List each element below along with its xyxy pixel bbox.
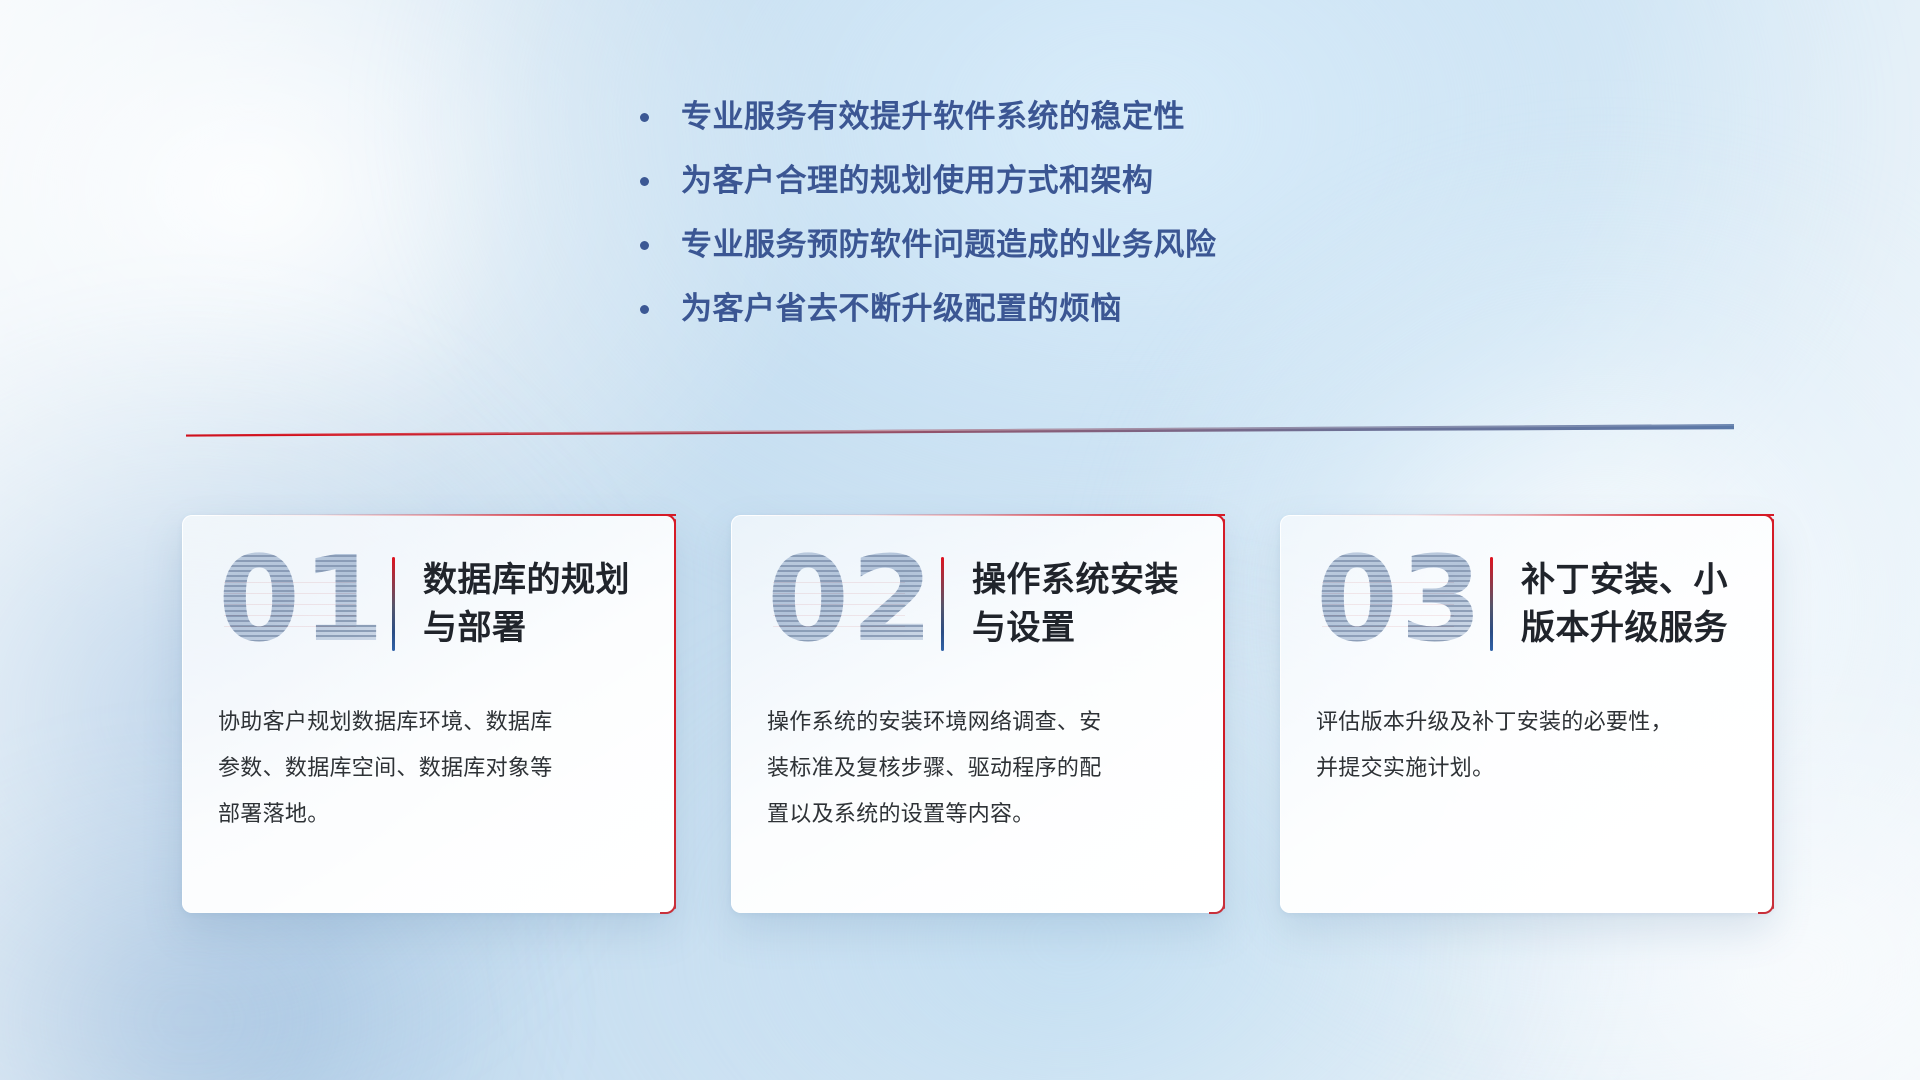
card-body-text: 协助客户规划数据库环境、数据库 参数、数据库空间、数据库对象等 部署落地。	[182, 699, 675, 837]
service-card-group: 01 数据库的规划 与部署 协助客户规划数据库环境、数据库 参数、数据库空间、数…	[182, 515, 1774, 913]
card-header: 02 操作系统安装 与设置	[731, 515, 1224, 693]
card-title: 数据库的规划 与部署	[423, 556, 630, 652]
card-header: 03 补丁安装、小 版本升级服务	[1280, 515, 1773, 693]
section-divider	[186, 424, 1734, 437]
card-body-text: 评估版本升级及补丁安装的必要性， 并提交实施计划。	[1280, 699, 1773, 791]
card-title-rule	[392, 557, 395, 651]
list-item: 专业服务预防软件问题造成的业务风险	[640, 224, 1400, 266]
benefits-bullet-list: 专业服务有效提升软件系统的稳定性 为客户合理的规划使用方式和架构 专业服务预防软…	[640, 96, 1400, 352]
bullet-dot-icon	[640, 177, 649, 186]
card-number-watermark: 01	[218, 548, 368, 660]
card-header: 01 数据库的规划 与部署	[182, 515, 675, 693]
card-body-text: 操作系统的安装环境网络调查、安 装标准及复核步骤、驱动程序的配 置以及系统的设置…	[731, 699, 1224, 837]
bullet-text: 为客户合理的规划使用方式和架构	[681, 160, 1154, 202]
bullet-dot-icon	[640, 241, 649, 250]
card-number-watermark: 02	[767, 548, 917, 660]
card-number-watermark: 03	[1316, 548, 1466, 660]
card-accent-bottom-corner	[1209, 898, 1225, 914]
list-item: 为客户省去不断升级配置的烦恼	[640, 288, 1400, 330]
card-number-text: 01	[218, 540, 386, 658]
slide-canvas: 专业服务有效提升软件系统的稳定性 为客户合理的规划使用方式和架构 专业服务预防软…	[0, 0, 1920, 1080]
card-title-rule	[941, 557, 944, 651]
bullet-dot-icon	[640, 305, 649, 314]
bullet-text: 为客户省去不断升级配置的烦恼	[681, 288, 1122, 330]
divider-shape-icon	[186, 424, 1734, 437]
list-item: 专业服务有效提升软件系统的稳定性	[640, 96, 1400, 138]
service-card[interactable]: 01 数据库的规划 与部署 协助客户规划数据库环境、数据库 参数、数据库空间、数…	[182, 515, 675, 913]
bullet-text: 专业服务有效提升软件系统的稳定性	[681, 96, 1185, 138]
card-accent-bottom-corner	[1758, 898, 1774, 914]
service-card[interactable]: 02 操作系统安装 与设置 操作系统的安装环境网络调查、安 装标准及复核步骤、驱…	[731, 515, 1224, 913]
card-title: 操作系统安装 与设置	[972, 556, 1179, 652]
service-card[interactable]: 03 补丁安装、小 版本升级服务 评估版本升级及补丁安装的必要性， 并提交实施计…	[1280, 515, 1773, 913]
bullet-dot-icon	[640, 113, 649, 122]
card-title-rule	[1490, 557, 1493, 651]
card-number-text: 03	[1316, 540, 1484, 658]
card-title: 补丁安装、小 版本升级服务	[1521, 556, 1728, 652]
bullet-text: 专业服务预防软件问题造成的业务风险	[681, 224, 1217, 266]
card-number-text: 02	[767, 540, 935, 658]
list-item: 为客户合理的规划使用方式和架构	[640, 160, 1400, 202]
card-accent-bottom-corner	[660, 898, 676, 914]
